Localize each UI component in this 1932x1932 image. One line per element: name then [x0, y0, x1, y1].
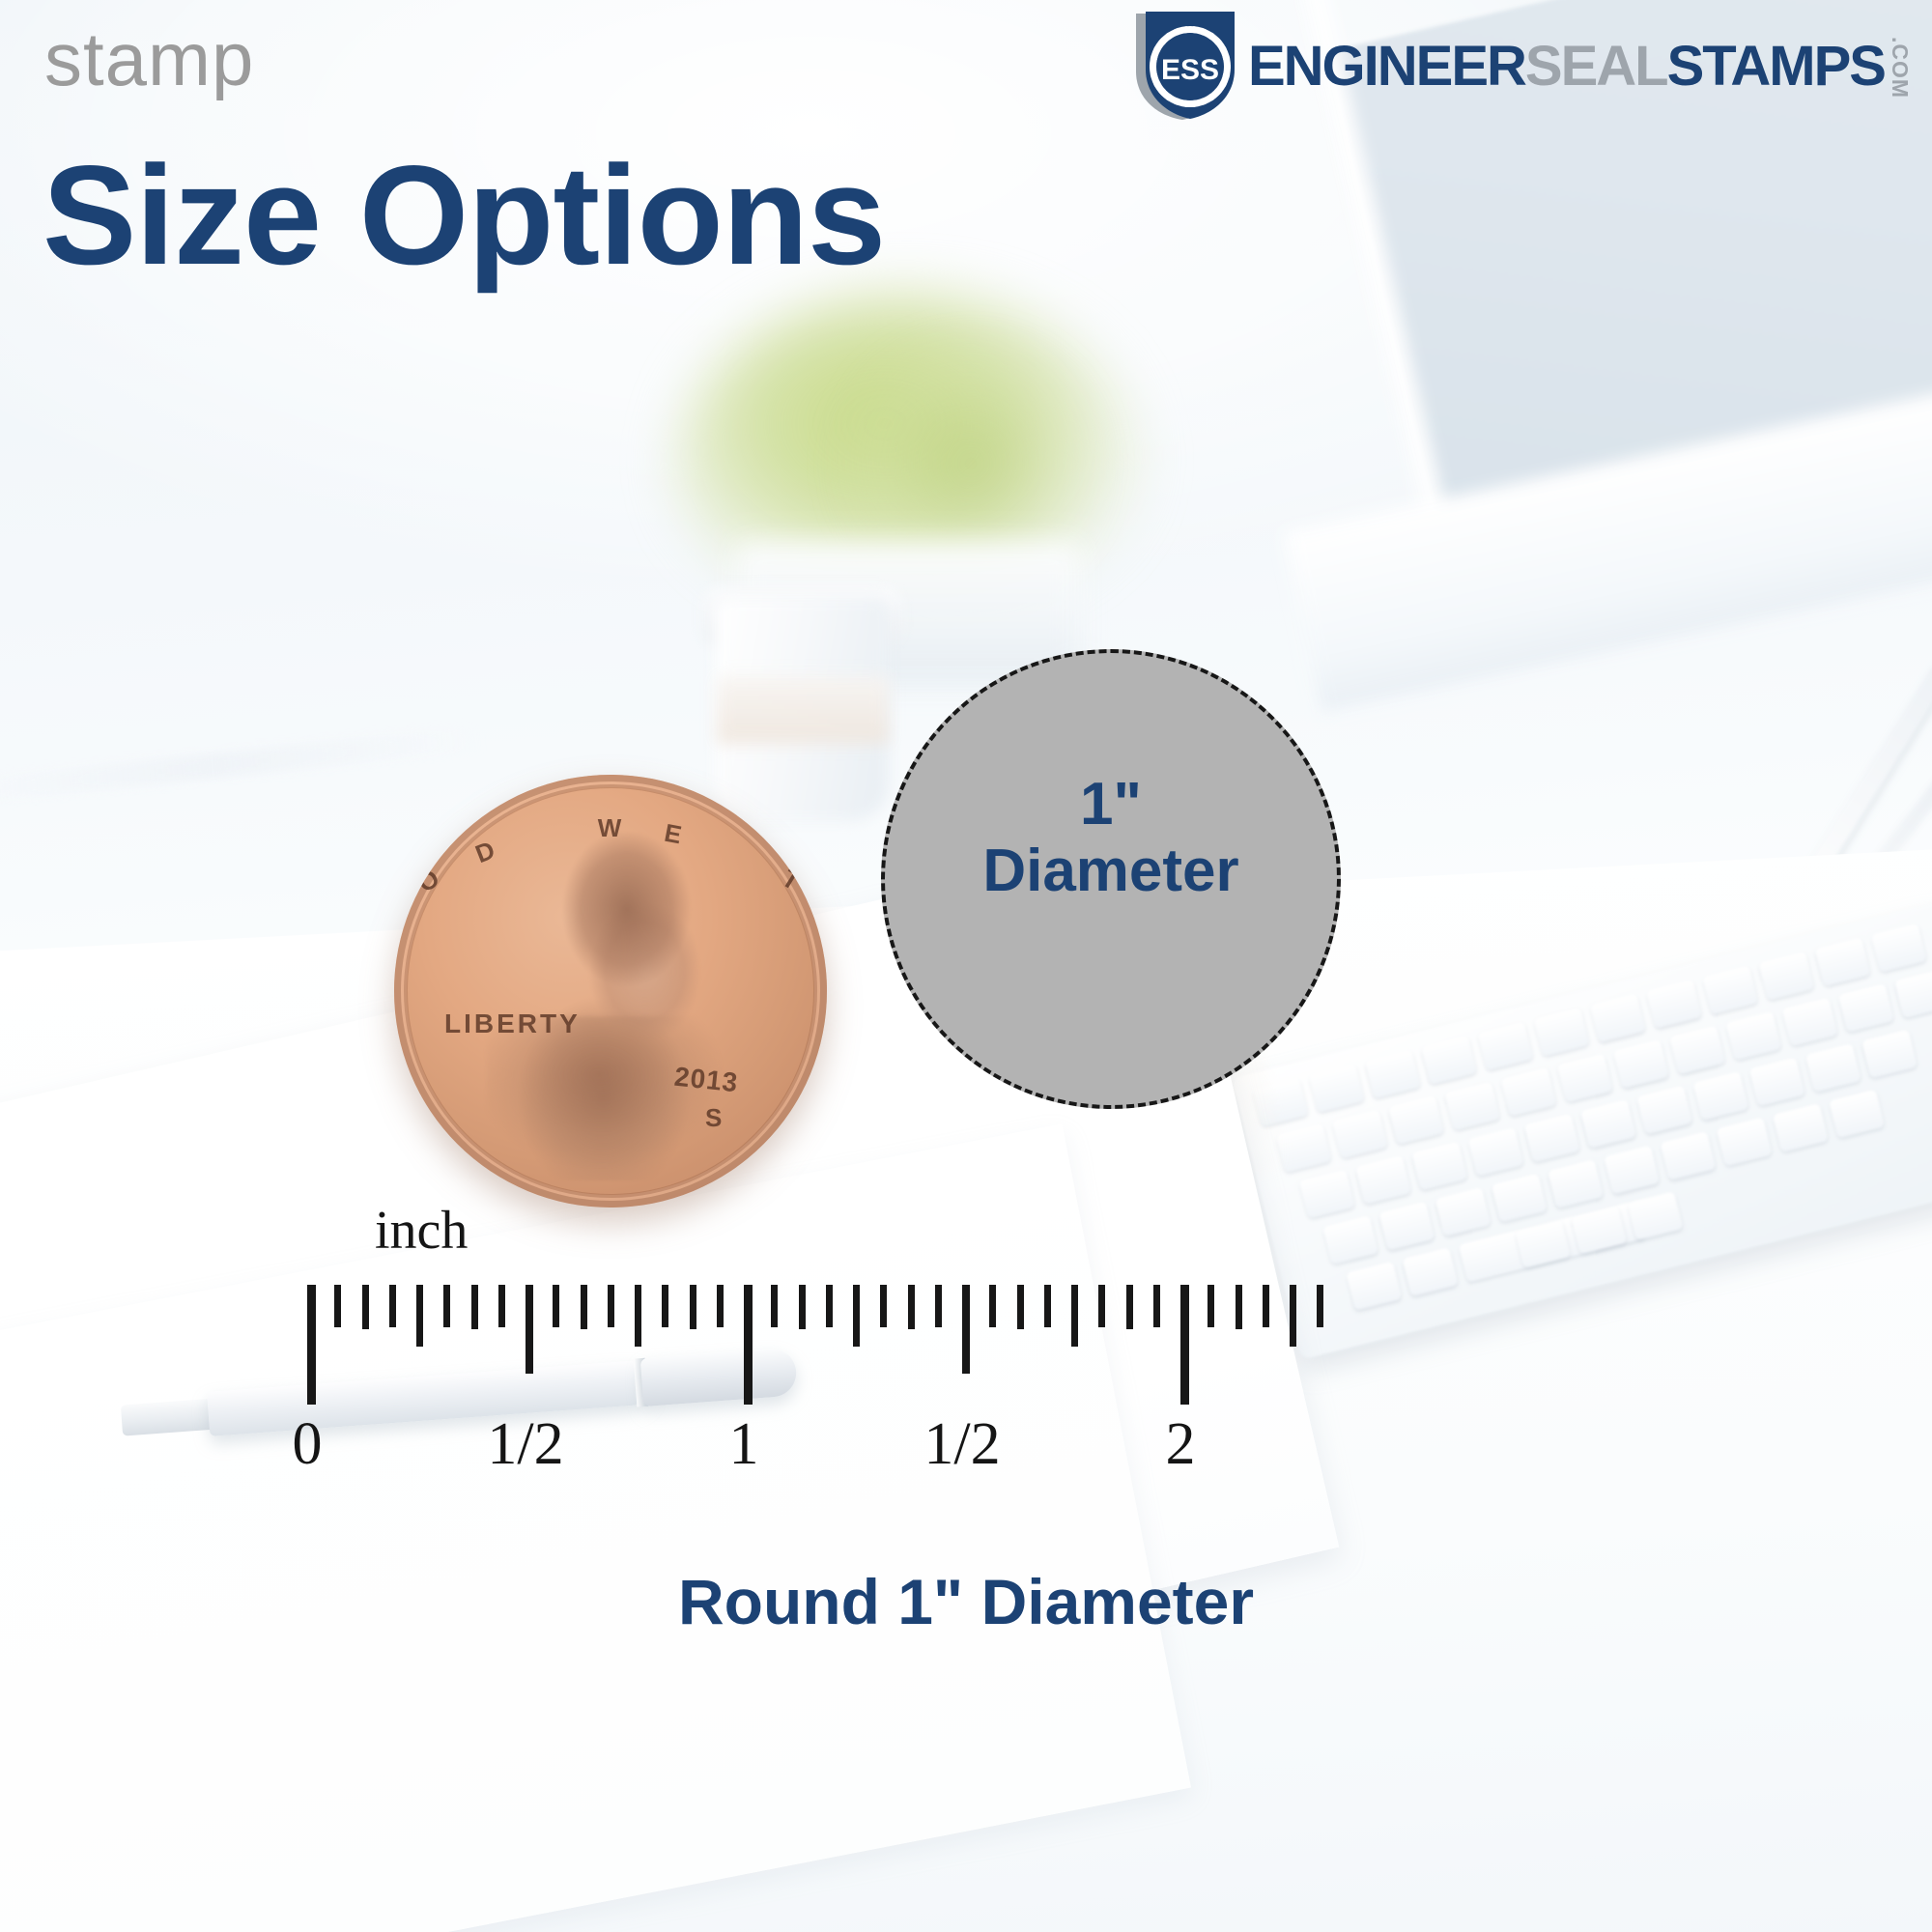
brand-wordmark: ENGINEER SEAL STAMPS .COM: [1248, 35, 1911, 99]
penny-motto: IN GOD WE TRUST: [394, 775, 827, 1207]
ruler-tick: [662, 1285, 668, 1327]
ruler-tick: [1180, 1285, 1189, 1405]
preview-shape-value: Diameter: [885, 838, 1337, 904]
ruler-tick: [908, 1285, 915, 1329]
penny-liberty-text: LIBERTY: [444, 1009, 581, 1039]
ruler-tick: [1017, 1285, 1024, 1329]
ruler-tick: [416, 1285, 423, 1347]
ruler-tick: [1071, 1285, 1078, 1347]
ruler-label: 0: [293, 1410, 323, 1479]
logo-word-stamps: STAMPS: [1667, 39, 1885, 95]
ruler-tick: [526, 1285, 533, 1374]
ruler-label: 1/2: [923, 1410, 1000, 1479]
ruler-label: 1: [729, 1410, 759, 1479]
svg-text:ESS: ESS: [1161, 54, 1219, 86]
ruler-tick: [1290, 1285, 1296, 1347]
ruler-tick: [362, 1285, 369, 1329]
ruler-tick: [1126, 1285, 1133, 1329]
ruler-tick: [935, 1285, 942, 1327]
ruler-tick: [498, 1285, 505, 1327]
ruler-tick: [1153, 1285, 1160, 1327]
ruler-label: 1/2: [487, 1410, 563, 1479]
penny-mint-mark: S: [705, 1103, 722, 1133]
ruler-tick: [334, 1285, 341, 1327]
coffee-cup-sleeve: [717, 676, 889, 744]
penny-motto-char: D: [471, 835, 501, 869]
page-title: Size Options: [43, 145, 885, 286]
ruler-label: 2: [1166, 1410, 1196, 1479]
penny-year-text: 2013: [673, 1062, 740, 1099]
ruler-tick: [389, 1285, 396, 1327]
size-options-graphic: stamp Size Options ESS ENGINEER SEAL STA…: [0, 0, 1932, 1932]
ruler-tick: [826, 1285, 833, 1327]
logo-dotcom-suffix: .COM: [1889, 37, 1911, 99]
stamp-size-preview-label: 1" Diameter: [885, 771, 1337, 905]
ruler-tick: [635, 1285, 641, 1347]
ruler-tick: [1207, 1285, 1214, 1327]
penny-motto-char: T: [777, 864, 808, 898]
penny-motto-char: O: [412, 862, 446, 898]
penny-motto-char: E: [662, 818, 686, 851]
ruler-tick: [581, 1285, 587, 1329]
ruler-tick: [443, 1285, 450, 1327]
ruler-tick: [690, 1285, 696, 1329]
brand-logo[interactable]: ESS ENGINEER SEAL STAMPS .COM: [1126, 10, 1911, 124]
ruler-tick: [1098, 1285, 1105, 1327]
inch-ruler: inch 01/211/22: [0, 1217, 1932, 1526]
ruler-tick: [853, 1285, 860, 1347]
product-size-caption: Round 1" Diameter: [0, 1565, 1932, 1638]
ruler-tick: [471, 1285, 478, 1329]
ruler-tick: [1044, 1285, 1051, 1327]
penny-motto-char: G: [394, 901, 397, 938]
ruler-tick: [1236, 1285, 1242, 1329]
ruler-tick: [1317, 1285, 1323, 1327]
ruler-tick: [608, 1285, 614, 1327]
ruler-tick: [962, 1285, 970, 1374]
eyebrow-label: stamp: [44, 21, 254, 97]
ruler-tick: [771, 1285, 778, 1327]
ruler-tick: [989, 1285, 996, 1327]
penny-reference-coin: IN GOD WE TRUST LIBERTY 2013 S: [394, 775, 827, 1207]
ess-shield-icon: ESS: [1126, 10, 1238, 124]
penny-motto-char: R: [825, 901, 827, 937]
ruler-unit-label: inch: [375, 1200, 468, 1262]
ruler-tick: [744, 1285, 753, 1405]
ruler-tick: [799, 1285, 806, 1329]
preview-size-value: 1": [885, 771, 1337, 838]
ruler-tick: [1263, 1285, 1269, 1327]
stamp-size-preview-circle: 1" Diameter: [881, 649, 1341, 1109]
logo-word-seal: SEAL: [1525, 39, 1667, 95]
ruler-tick: [717, 1285, 724, 1327]
logo-word-engineer: ENGINEER: [1248, 39, 1525, 95]
ruler-tick: [307, 1285, 316, 1405]
ruler-tick: [553, 1285, 559, 1327]
penny-motto-char: W: [598, 813, 624, 843]
ruler-tick: [880, 1285, 887, 1327]
